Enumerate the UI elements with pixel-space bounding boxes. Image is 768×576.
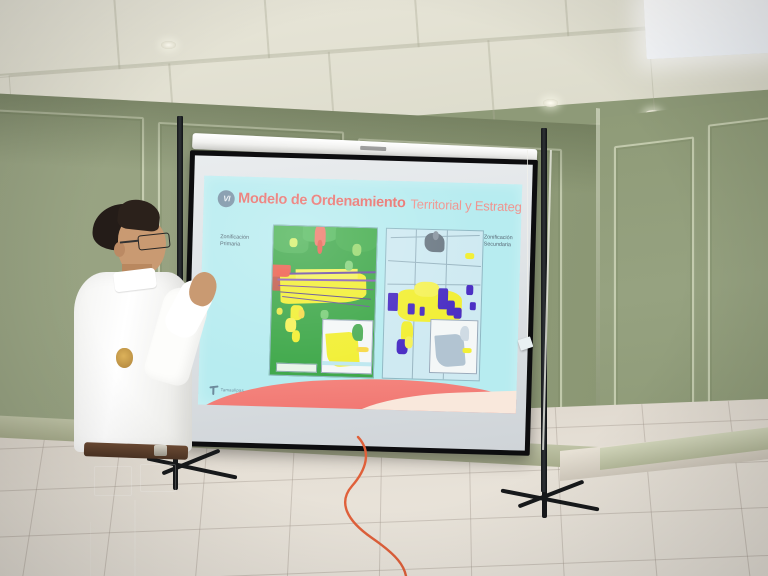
presenter-hair-top (117, 198, 162, 232)
presenter-jeans (80, 452, 192, 576)
presenter-ear (114, 242, 125, 257)
presenter (62, 196, 222, 576)
sleeve-crest-icon (116, 348, 133, 368)
room-scene: VI Modelo de Ordenamiento Territorial y … (0, 0, 768, 576)
